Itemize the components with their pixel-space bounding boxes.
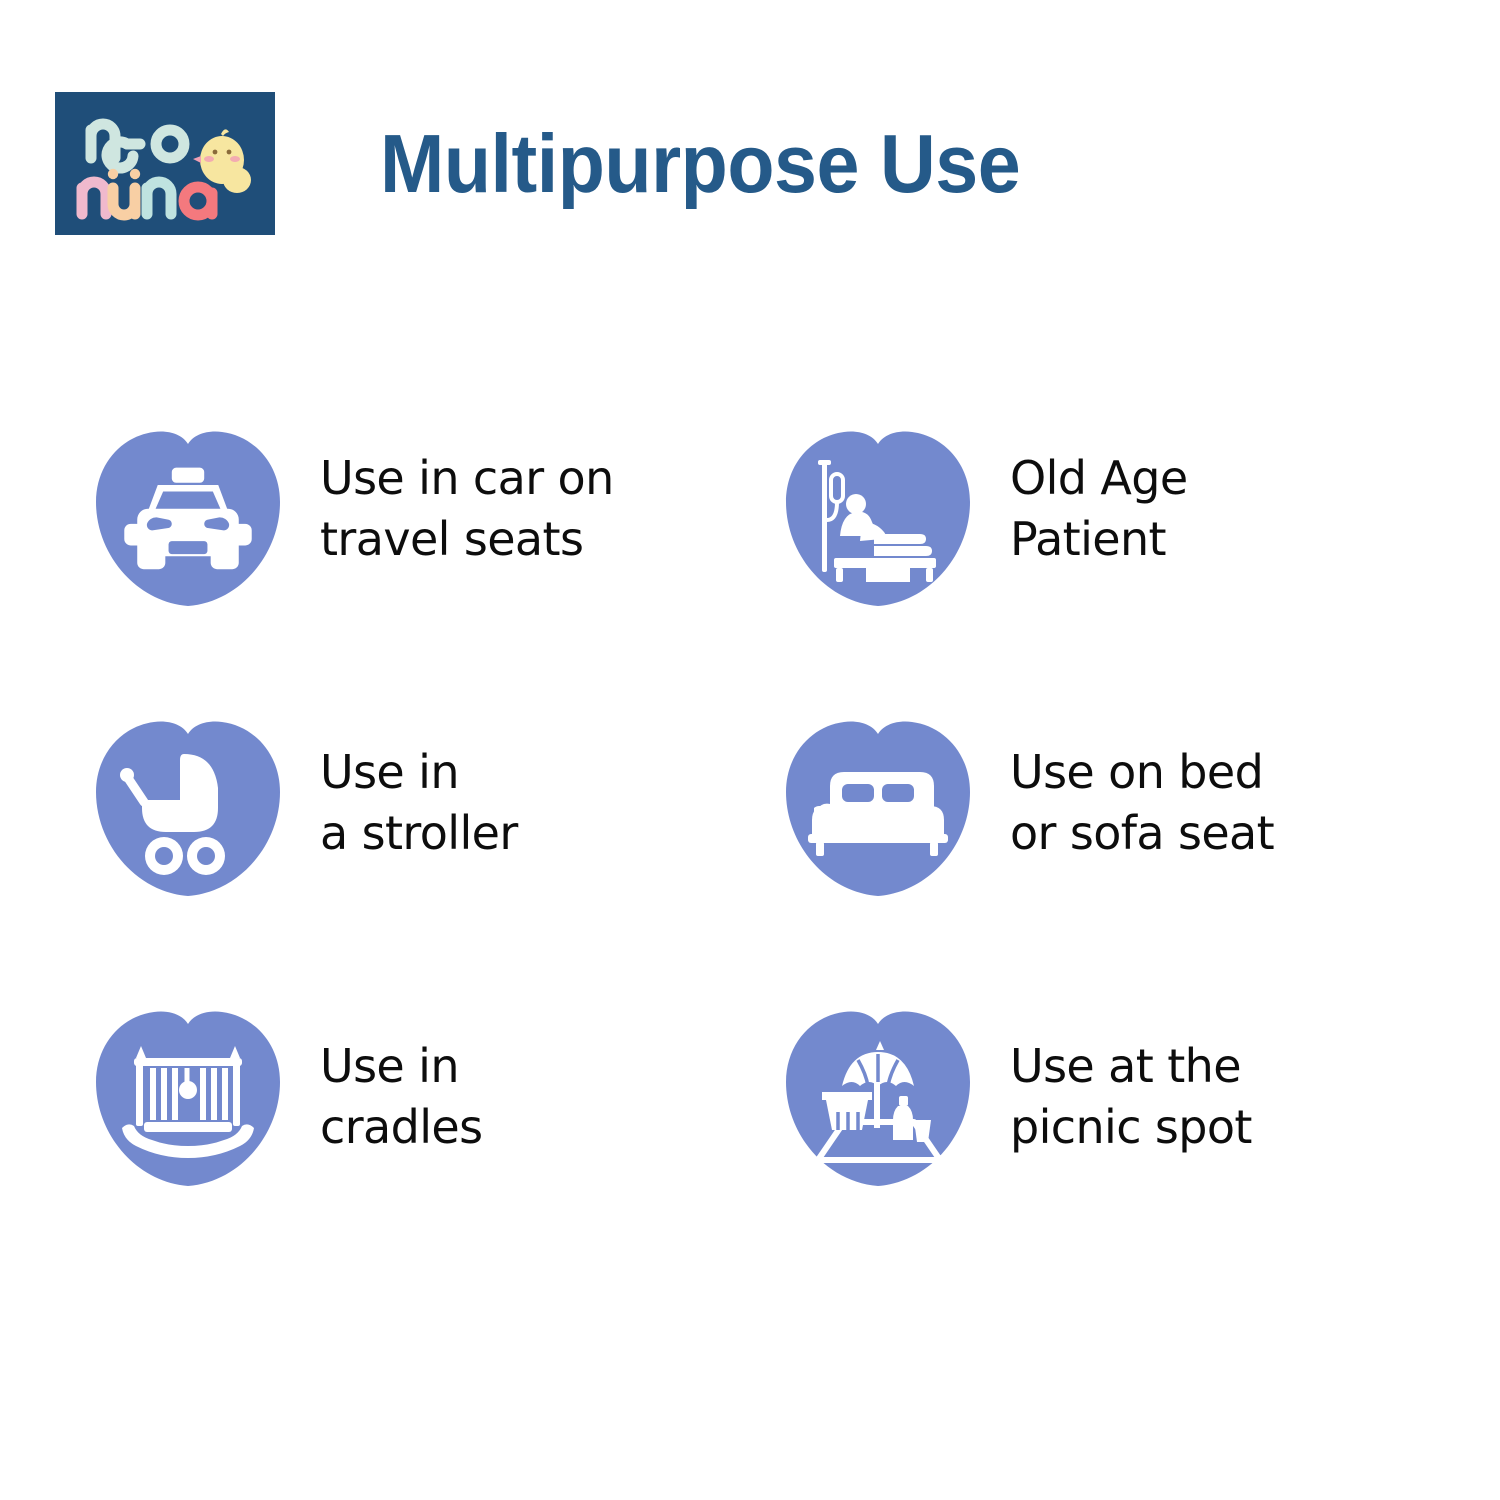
- feature-grid: Use in car on travel seats: [0, 430, 1500, 1310]
- feature-item-bed-sofa: Use on bed or sofa seat: [778, 720, 1468, 1010]
- badge-stroller: [88, 720, 288, 900]
- feature-item-car: Use in car on travel seats: [88, 430, 778, 720]
- feature-item-cradle: Use in cradles: [88, 1010, 778, 1310]
- feature-item-picnic: Use at the picnic spot: [778, 1010, 1468, 1310]
- badge-hospital-bed: [778, 430, 978, 610]
- brand-logo: [55, 92, 275, 235]
- badge-cradle: [88, 1010, 288, 1190]
- feature-label: Old Age Patient: [1010, 430, 1188, 570]
- cradle-icon: [88, 1010, 288, 1190]
- hospital-bed-patient-icon: [778, 430, 978, 610]
- feature-label: Use in a stroller: [320, 720, 518, 864]
- page-header: Multipurpose Use: [55, 88, 1445, 238]
- badge-taxi-car: [88, 430, 288, 610]
- feature-item-stroller: Use in a stroller: [88, 720, 778, 1010]
- feature-label: Use in car on travel seats: [320, 430, 614, 570]
- feature-label: Use on bed or sofa seat: [1010, 720, 1274, 864]
- badge-bed-sofa: [778, 720, 978, 900]
- baby-stroller-icon: [88, 720, 288, 900]
- neo-nuna-logo-icon: [55, 92, 275, 235]
- picnic-umbrella-icon: [778, 1010, 978, 1190]
- feature-label: Use at the picnic spot: [1010, 1010, 1252, 1158]
- page-title: Multipurpose Use: [380, 122, 1020, 205]
- taxi-car-icon: [88, 430, 288, 610]
- bed-sofa-icon: [778, 720, 978, 900]
- feature-label: Use in cradles: [320, 1010, 482, 1158]
- feature-item-patient: Old Age Patient: [778, 430, 1468, 720]
- badge-picnic: [778, 1010, 978, 1190]
